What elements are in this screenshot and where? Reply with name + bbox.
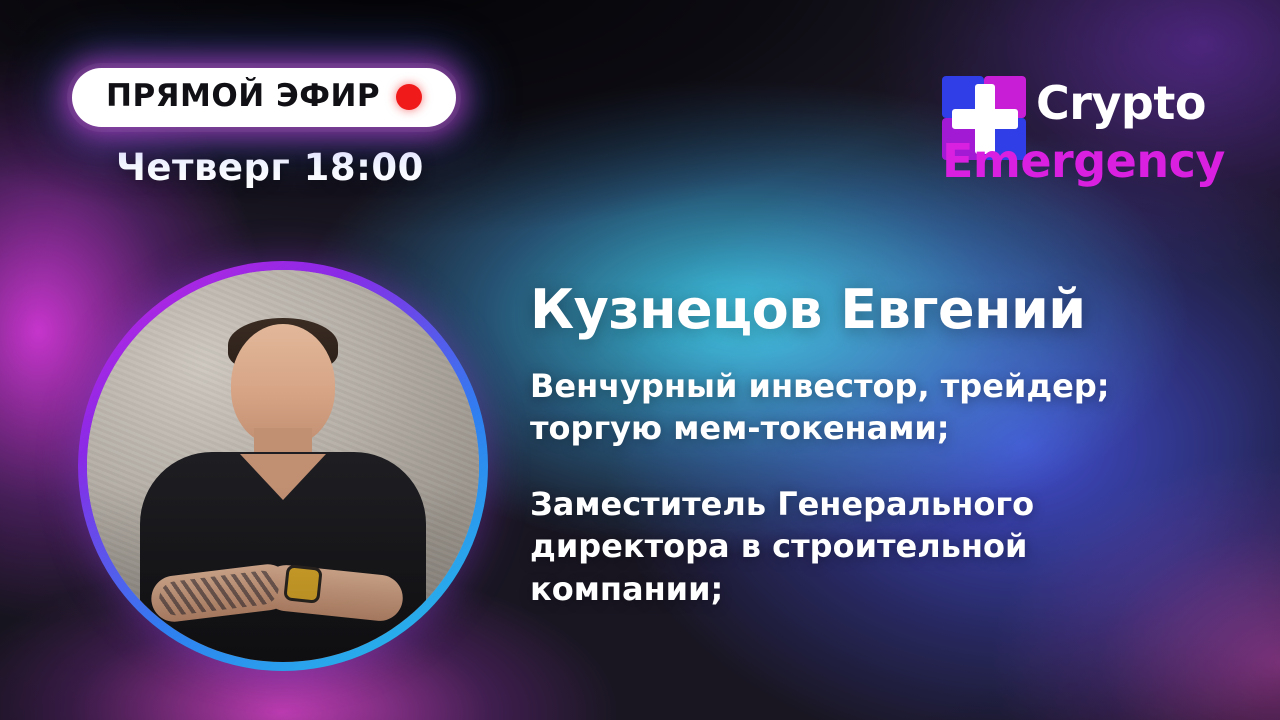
guest-photo [87,270,479,662]
bio-spacer [530,449,1240,483]
guest-bio-line-2: торгую мем-токенами; [530,407,1240,449]
photo-shading [87,270,479,662]
schedule-label: Четверг 18:00 [116,149,492,186]
guest-bio-line-4: директора в строительной [530,525,1240,567]
guest-bio-line-1: Венчурный инвестор, трейдер; [530,365,1240,407]
logo-plus-horizontal [952,109,1018,129]
guest-avatar [78,261,488,671]
live-badge: ПРЯМОЙ ЭФИР [72,68,456,127]
brand-logo: Crypto Emergency [942,72,1212,202]
record-dot-icon [396,84,422,110]
live-block: ПРЯМОЙ ЭФИР Четверг 18:00 [72,68,492,186]
logo-word-crypto: Crypto [1036,80,1206,126]
guest-bio-line-3: Заместитель Генерального [530,483,1240,525]
live-label: ПРЯМОЙ ЭФИР [106,81,380,112]
logo-word-emergency: Emergency [942,138,1225,184]
guest-name: Кузнецов Евгений [530,282,1240,339]
guest-bio-line-5: компании; [530,568,1240,610]
promo-banner: ПРЯМОЙ ЭФИР Четверг 18:00 Crypto Emergen… [0,0,1280,720]
guest-info: Кузнецов Евгений Венчурный инвестор, тре… [530,282,1240,610]
